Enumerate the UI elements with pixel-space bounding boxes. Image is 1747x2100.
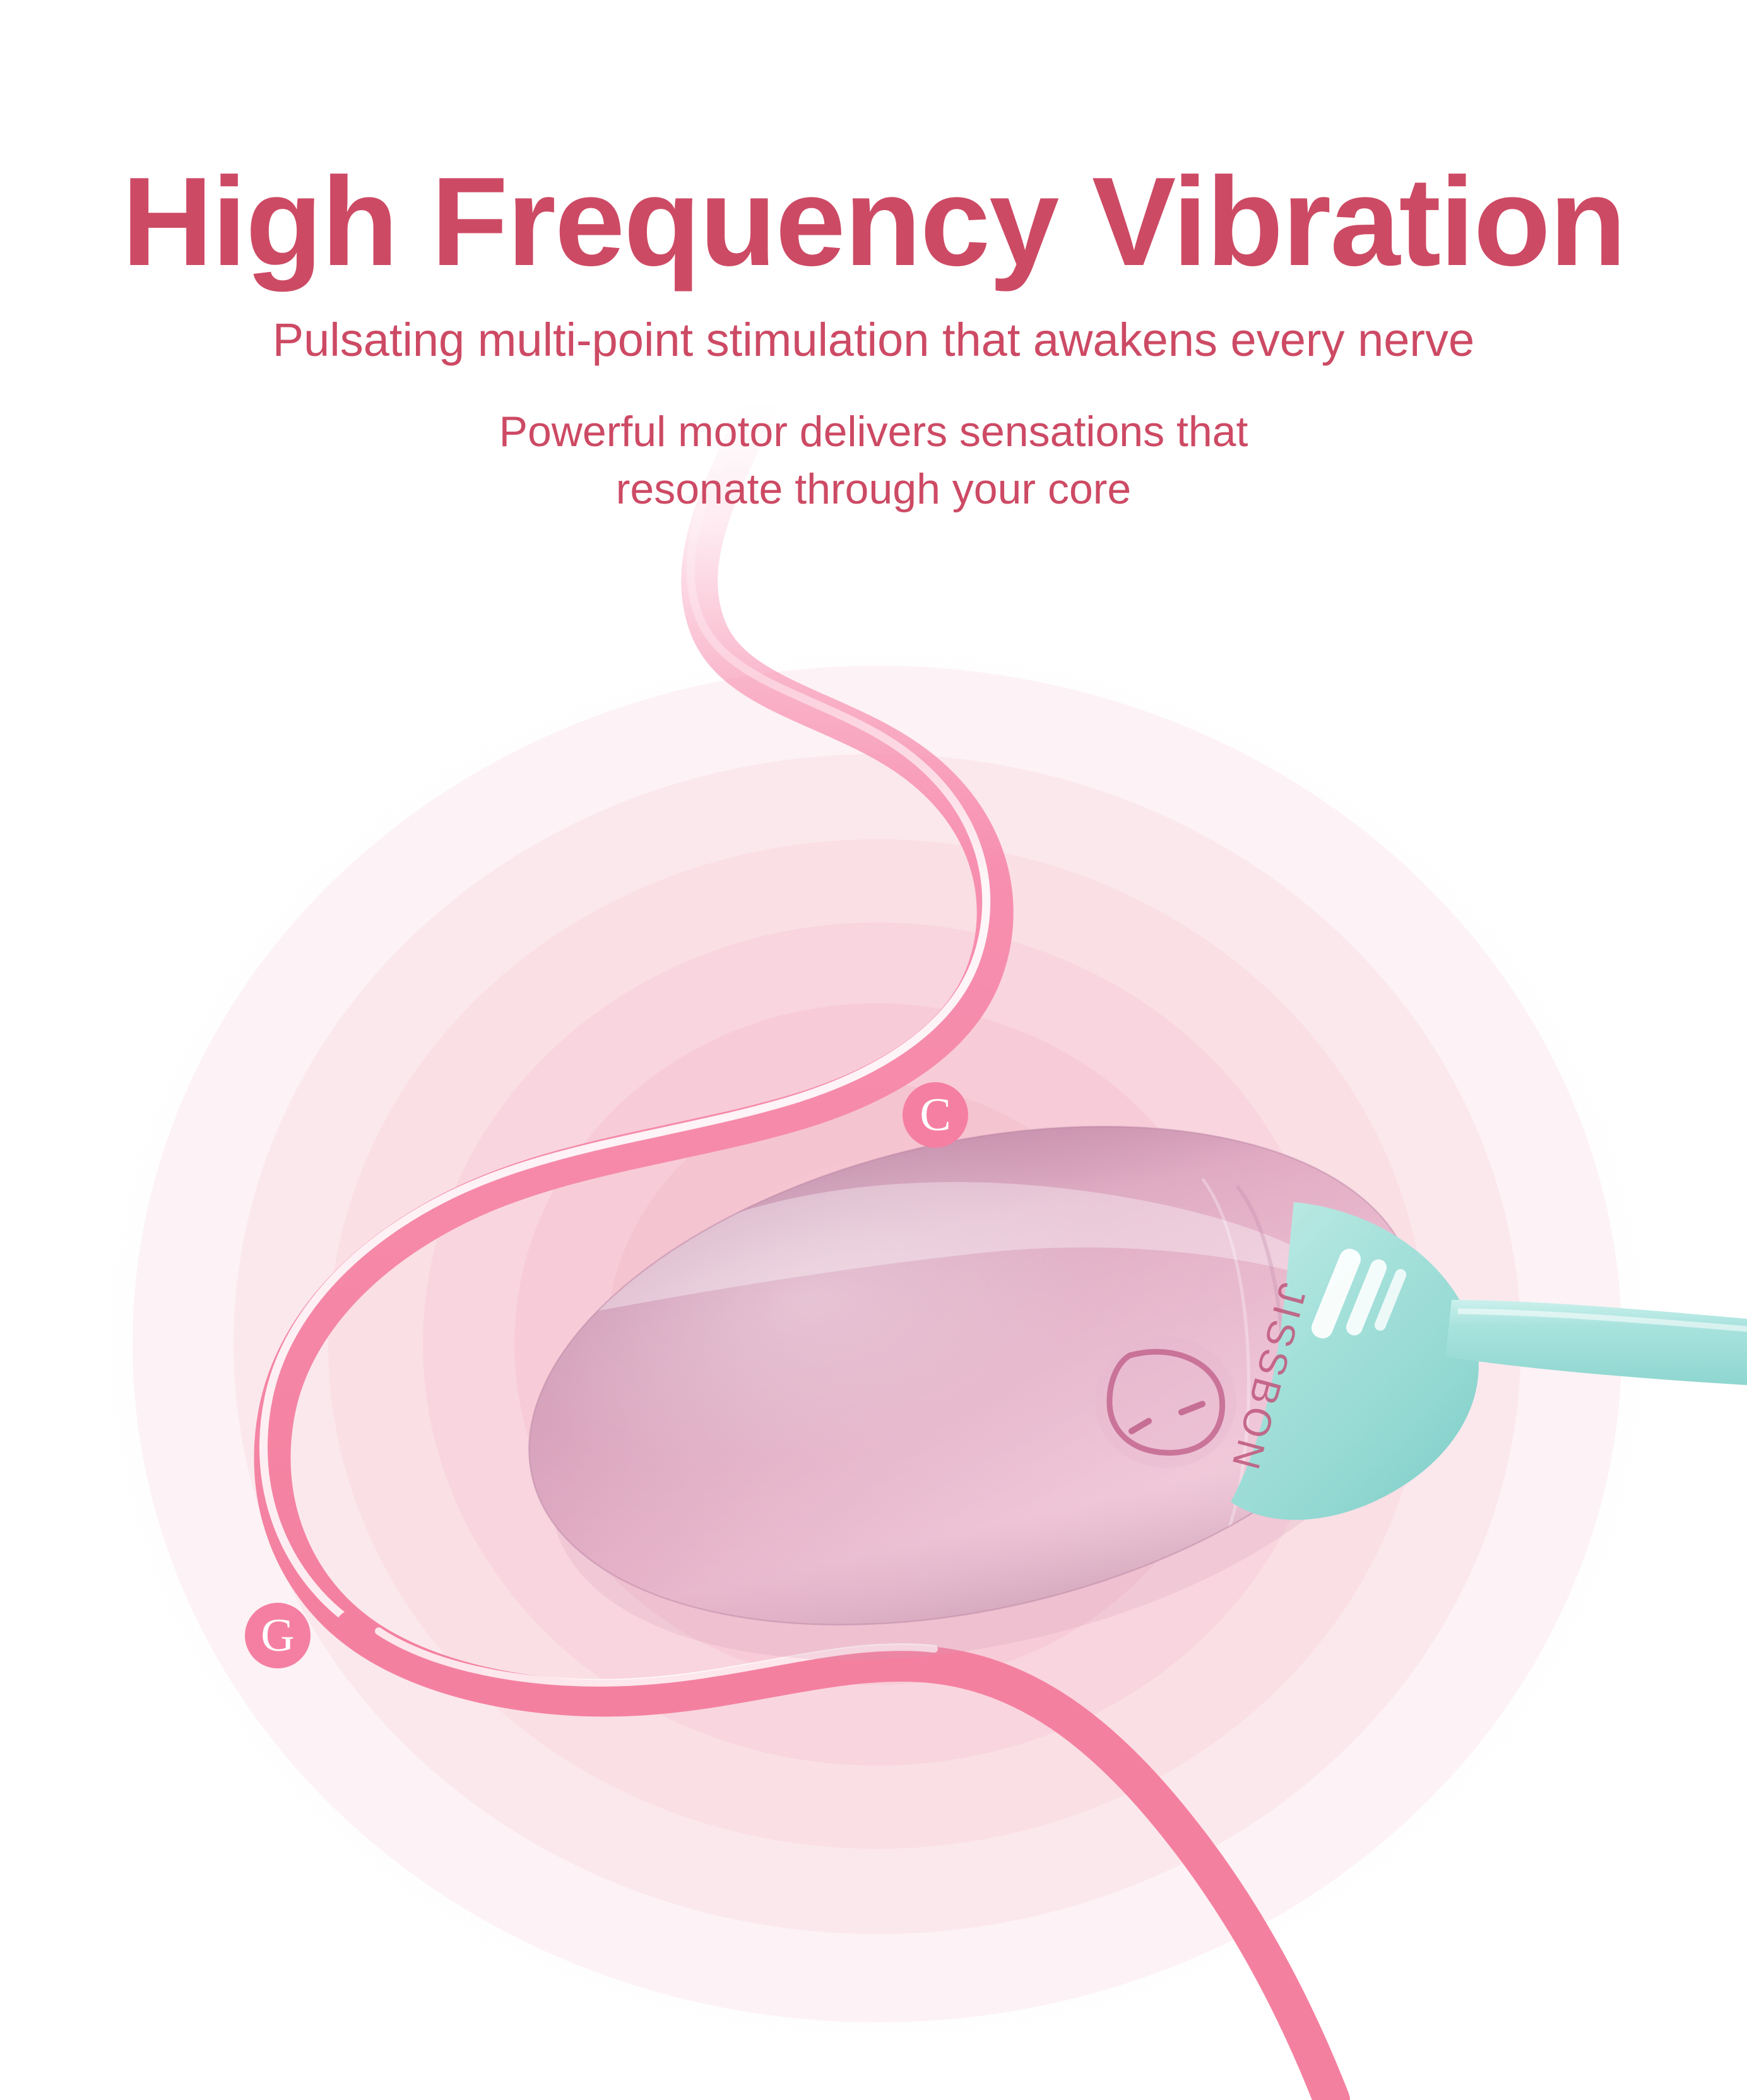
subtitle-secondary-line-2: resonate through your core <box>0 461 1747 518</box>
product-feature-page: High Frequency Vibration Pulsating multi… <box>0 0 1747 2100</box>
cord-marker-c: C <box>903 1082 968 1148</box>
subtitle-secondary: Powerful motor delivers sensations that … <box>0 367 1747 518</box>
product-cap <box>1231 1202 1747 1520</box>
cord-marker-g: G <box>245 1603 311 1668</box>
cord-lower <box>353 1628 1332 2100</box>
subtitle-primary: Pulsating multi-point stimulation that a… <box>0 286 1747 367</box>
page-title: High Frequency Vibration <box>0 0 1747 286</box>
headline-block: High Frequency Vibration Pulsating multi… <box>0 0 1747 518</box>
power-button-icon[interactable] <box>1095 1336 1236 1468</box>
subtitle-secondary-line-1: Powerful motor delivers sensations that <box>0 403 1747 461</box>
